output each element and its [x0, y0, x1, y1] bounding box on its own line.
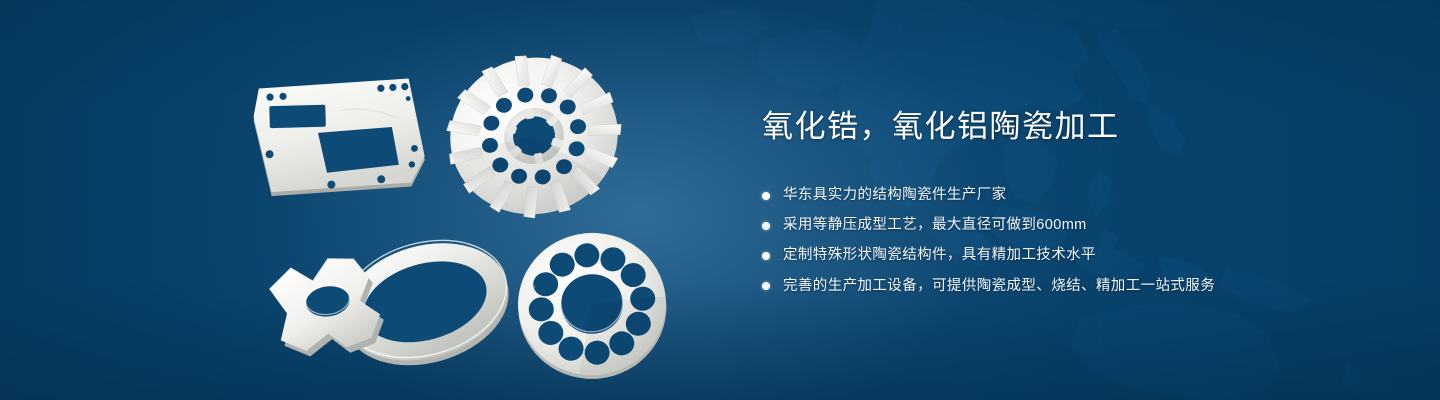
bullet-point-icon: [762, 192, 770, 200]
feature-text: 采用等静压成型工艺，最大直径可做到600mm: [783, 215, 1087, 237]
feature-list-item: 采用等静压成型工艺，最大直径可做到600mm: [762, 215, 1362, 237]
banner-text-content: 氧化锆，氧化铝陶瓷加工 华东具实力的结构陶瓷件生产厂家 采用等静压成型工艺，最大…: [762, 108, 1362, 306]
promo-banner: 氧化锆，氧化铝陶瓷加工 华东具实力的结构陶瓷件生产厂家 采用等静压成型工艺，最大…: [0, 0, 1440, 400]
ceramic-impeller-image: [438, 40, 630, 232]
feature-text: 华东具实力的结构陶瓷件生产厂家: [783, 185, 1007, 207]
feature-text: 定制特殊形状陶瓷结构件，具有精加工技术水平: [783, 245, 1096, 267]
bullet-point-icon: [762, 282, 770, 290]
ceramic-perforated-disc-image: [508, 218, 676, 386]
bullet-point-icon: [762, 222, 770, 230]
feature-list: 华东具实力的结构陶瓷件生产厂家 采用等静压成型工艺，最大直径可做到600mm 定…: [762, 185, 1362, 298]
ceramic-plate-image: [248, 62, 458, 202]
bullet-point-icon: [762, 252, 770, 260]
feature-list-item: 华东具实力的结构陶瓷件生产厂家: [762, 185, 1362, 207]
feature-list-item: 定制特殊形状陶瓷结构件，具有精加工技术水平: [762, 245, 1362, 267]
feature-list-item: 完善的生产加工设备，可提供陶瓷成型、烧结、精加工一站式服务: [762, 276, 1362, 298]
banner-headline: 氧化锆，氧化铝陶瓷加工: [762, 108, 1362, 147]
feature-text: 完善的生产加工设备，可提供陶瓷成型、烧结、精加工一站式服务: [783, 276, 1215, 298]
ceramic-cross-and-ring-image: [246, 222, 526, 374]
